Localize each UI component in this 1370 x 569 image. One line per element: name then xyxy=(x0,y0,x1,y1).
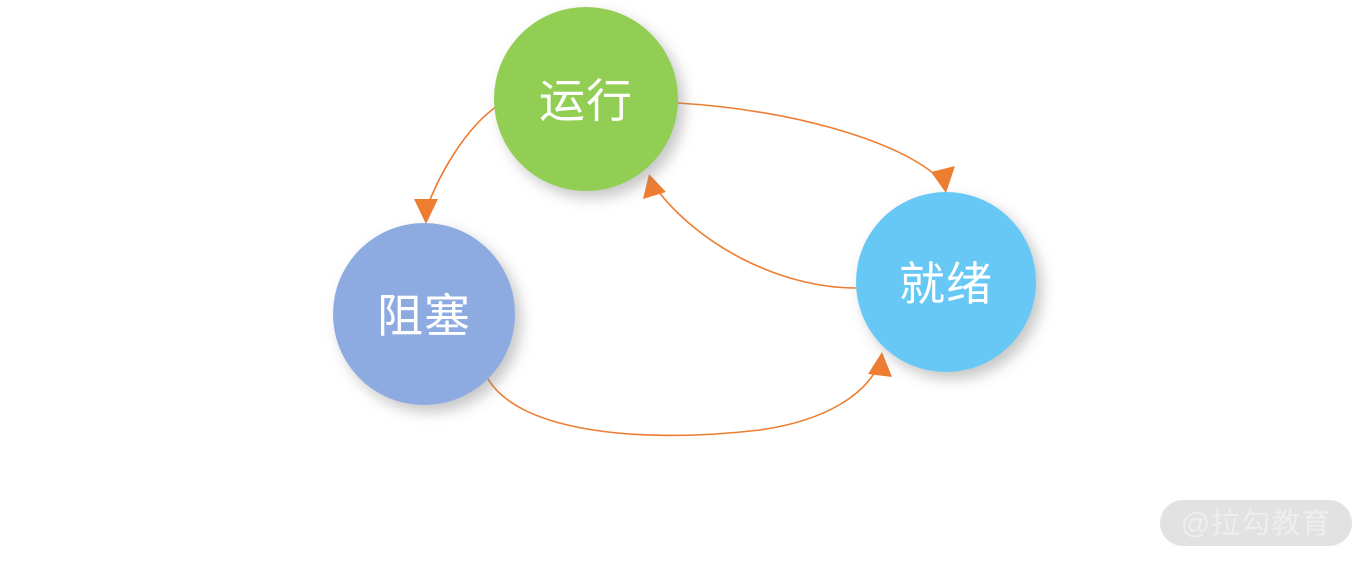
watermark-text: @拉勾教育 xyxy=(1181,507,1331,540)
edge-ready-to-running xyxy=(643,174,856,288)
edge-path-running-to-blocked xyxy=(426,106,497,210)
node-blocked[interactable]: 阻塞 xyxy=(333,223,515,405)
arrowhead-ready-to-running xyxy=(643,174,666,199)
node-running[interactable]: 运行 xyxy=(494,7,678,191)
node-ready[interactable]: 就绪 xyxy=(856,192,1036,372)
arrowhead-running-to-ready xyxy=(931,166,955,193)
arrowhead-running-to-blocked xyxy=(414,199,438,224)
state-transition-diagram: 运行 阻塞 就绪 @拉勾教育 xyxy=(0,0,1370,569)
node-blocked-label: 阻塞 xyxy=(377,290,471,342)
diagram-canvas: 运行 阻塞 就绪 @拉勾教育 xyxy=(0,0,1370,569)
edge-running-to-blocked xyxy=(414,106,497,224)
edge-blocked-to-ready xyxy=(488,352,892,435)
edge-path-running-to-ready xyxy=(678,103,941,180)
watermark: @拉勾教育 xyxy=(1160,500,1352,546)
node-running-label: 运行 xyxy=(539,75,633,127)
node-ready-label: 就绪 xyxy=(899,258,993,310)
arrowhead-blocked-to-ready xyxy=(868,352,892,377)
edge-path-ready-to-running xyxy=(655,187,856,288)
edge-path-blocked-to-ready xyxy=(488,366,878,435)
nodes-layer: 运行 阻塞 就绪 xyxy=(333,7,1036,405)
edge-running-to-ready xyxy=(678,103,955,193)
